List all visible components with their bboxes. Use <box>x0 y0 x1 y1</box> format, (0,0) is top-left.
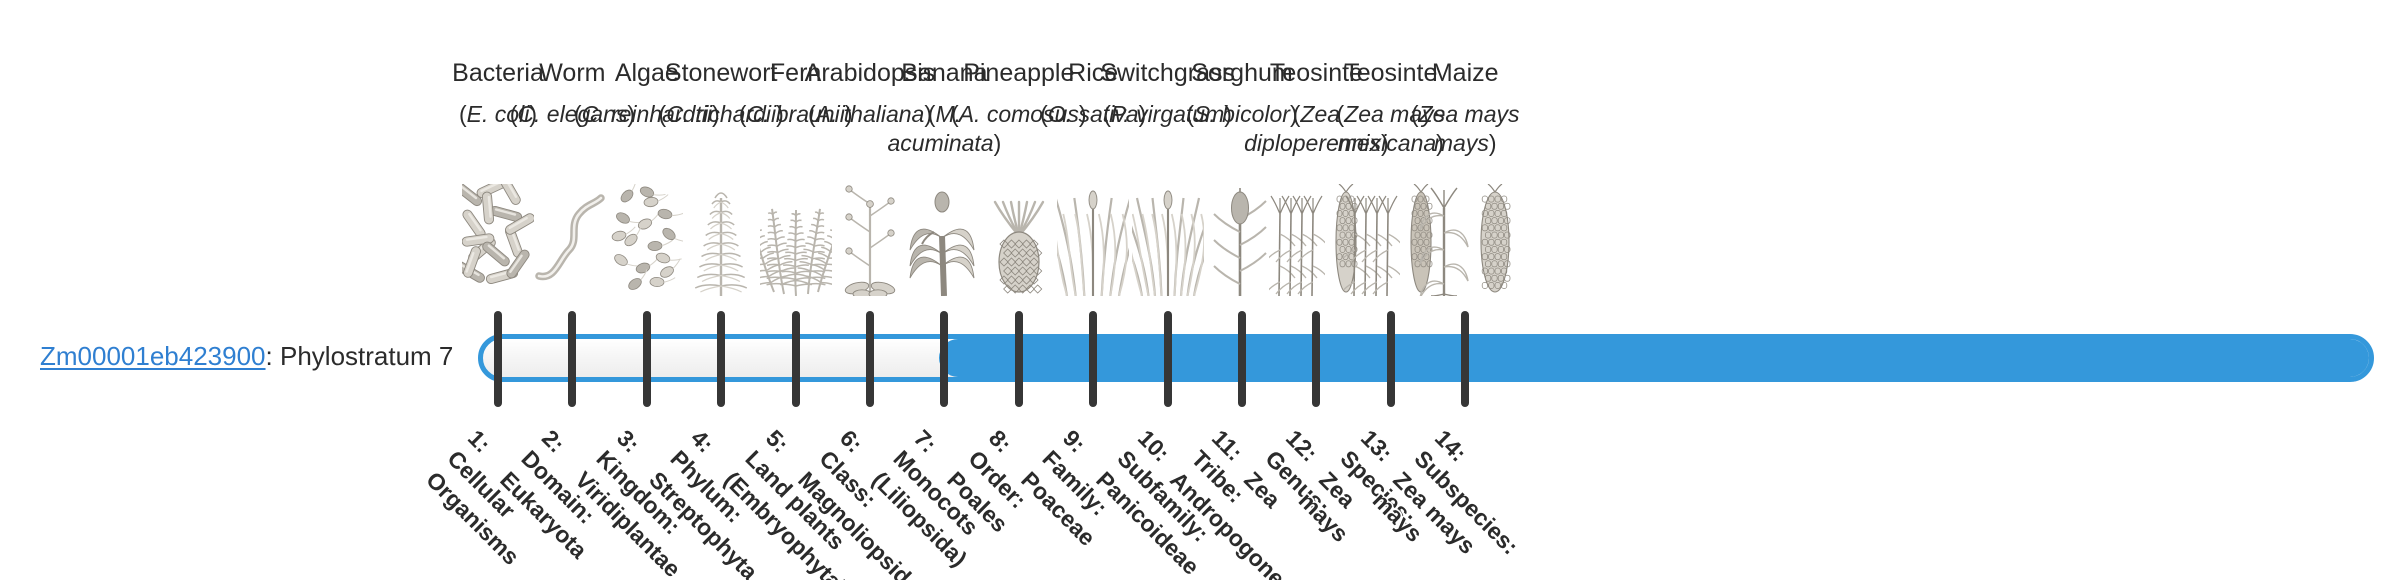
stratum-taxon: Eukaryota <box>494 466 727 580</box>
stratum-number: 14: <box>1428 424 1661 580</box>
stratum-number: 12: <box>1280 424 1513 580</box>
phylostratum-tick-13[interactable] <box>1387 311 1395 407</box>
gene-label-separator: : <box>266 341 280 371</box>
latin-open-paren: ( <box>1186 101 1194 127</box>
gene-id-link[interactable]: Zm00001eb423900 <box>40 341 266 371</box>
stratum-number: 13: <box>1354 424 1587 580</box>
species-common-name: Maize <box>1390 58 1540 89</box>
gene-phylostratum-value: Phylostratum 7 <box>280 341 453 371</box>
phylostratum-label-5: 5:Land plants(Embryophyta) <box>717 424 992 580</box>
phylostratum-tick-11[interactable] <box>1238 311 1246 407</box>
phylostratum-tick-4[interactable] <box>717 311 725 407</box>
stratum-rank: Domain: <box>515 445 748 580</box>
stratum-taxon: Panicoideae <box>1089 466 1322 580</box>
stratum-number: 4: <box>684 424 917 580</box>
phylostratum-tick-1[interactable] <box>494 311 502 407</box>
phylostratum-label-3: 3:Kingdom:Viridiplantae <box>568 424 843 580</box>
phylostratum-label-2: 2:Domain:Eukaryota <box>494 424 769 580</box>
stratum-rank: Subfamily: <box>1110 445 1343 580</box>
phylostratum-label-9: 9:Family:Poaceae <box>1015 424 1290 580</box>
phylostratum-label-14: 14:Subspecies:Zea maysmays <box>1366 424 1661 580</box>
phylostratum-label-1: 1:CellularOrganisms <box>420 424 695 580</box>
stratum-number: 3: <box>610 424 843 580</box>
latin-open-paren: ( <box>1103 101 1111 127</box>
stratum-rank: Order: <box>961 445 1194 580</box>
phylostratum-label-12: 12:Genus:Zea <box>1238 424 1513 580</box>
stratum-taxon-cont: mays <box>1366 486 1599 580</box>
stratum-taxon: Viridiplantae <box>568 466 801 580</box>
stratum-taxon: Zea <box>1312 466 1545 580</box>
stratum-rank: Land plants <box>738 445 971 580</box>
latin-open-paren: ( <box>1336 101 1344 127</box>
phylostratum-label-7: 7:Monocots(Liliopsida) <box>866 424 1141 580</box>
stratum-number: 8: <box>982 424 1215 580</box>
stratum-taxon: Andropogoneae <box>1164 466 1397 580</box>
phylostratum-label-13: 13:Species:Zeamays <box>1292 424 1587 580</box>
stratum-rank: Kingdom: <box>589 445 822 580</box>
stratum-number: 2: <box>536 424 769 580</box>
phylostratum-tick-10[interactable] <box>1164 311 1172 407</box>
phylostratum-tick-3[interactable] <box>643 311 651 407</box>
stratum-number: 10: <box>1131 424 1364 580</box>
stratum-number: 1: <box>461 424 694 580</box>
species-header-maize: Maize(Zea mays mays) <box>1390 58 1540 158</box>
stratum-taxon: Streptophyta <box>643 466 876 580</box>
latin-close-paren: ) <box>1489 130 1497 156</box>
stratum-rank: Monocots <box>887 445 1120 580</box>
phylostratum-tick-2[interactable] <box>568 311 576 407</box>
latin-open-paren: ( <box>951 101 959 127</box>
phylostratum-label-11: 11:Tribe:Andropogoneae <box>1164 424 1439 580</box>
species-latin-name: (Zea mays mays) <box>1390 100 1540 158</box>
stratum-rank: Subspecies: <box>1408 445 1641 580</box>
stratum-number: 5: <box>759 424 992 580</box>
phylostratum-tick-6[interactable] <box>866 311 874 407</box>
stratum-rank: Class: <box>812 445 1045 580</box>
stratum-number: 11: <box>1205 424 1438 580</box>
phylostratum-label-10: 10:Subfamily:Panicoideae <box>1089 424 1364 580</box>
stratum-rank: Genus: <box>1259 445 1492 580</box>
stratum-rank: Tribe: <box>1184 445 1417 580</box>
latin-open-paren: ( <box>1411 101 1419 127</box>
stratum-taxon: Organisms <box>420 466 653 580</box>
stratum-taxon: Zea mays <box>1387 466 1620 580</box>
stratum-rank: Phylum: <box>664 445 897 580</box>
phylostratum-visualization: Zm00001eb423900: Phylostratum 7 Bacteria… <box>0 0 2400 580</box>
latin-open-paren: ( <box>1040 101 1048 127</box>
latin-open-paren: ( <box>808 101 816 127</box>
stratum-taxon: Poales <box>940 466 1173 580</box>
phylostratum-tick-7[interactable] <box>940 311 948 407</box>
maize-icon <box>1405 168 1525 296</box>
phylostratum-label-4: 4:Phylum:Streptophyta <box>643 424 918 580</box>
phylostratum-tick-5[interactable] <box>792 311 800 407</box>
stratum-rank: Cellular <box>440 445 673 580</box>
latin-close-paren: ) <box>994 130 1002 156</box>
latin-binomial: Zea mays mays <box>1419 101 1520 156</box>
gene-phylostratum-label: Zm00001eb423900: Phylostratum 7 <box>40 341 440 372</box>
stratum-taxon: (Embryophyta) <box>717 466 950 580</box>
stratum-taxon-cont: mays <box>1292 486 1525 580</box>
stratum-number: 7: <box>908 424 1141 580</box>
stratum-taxon: Zea <box>1238 466 1471 580</box>
latin-open-paren: ( <box>574 101 582 127</box>
phylostratum-tick-9[interactable] <box>1089 311 1097 407</box>
phylostratum-bar-fill <box>939 339 2374 377</box>
stratum-taxon: Magnoliopsida <box>792 466 1025 580</box>
stratum-number: 9: <box>1056 424 1289 580</box>
phylostratum-tick-8[interactable] <box>1015 311 1023 407</box>
stratum-taxon: Poaceae <box>1015 466 1248 580</box>
phylostratum-tick-12[interactable] <box>1312 311 1320 407</box>
stratum-taxon: (Liliopsida) <box>866 466 1099 580</box>
stratum-rank: Species: <box>1333 445 1566 580</box>
latin-open-paren: ( <box>459 101 467 127</box>
phylostratum-bar-track[interactable] <box>478 334 2374 382</box>
stratum-number: 6: <box>833 424 1066 580</box>
phylostratum-label-6: 6:Class:Magnoliopsida <box>792 424 1067 580</box>
stratum-rank: Family: <box>1036 445 1269 580</box>
phylostratum-label-8: 8:Order:Poales <box>940 424 1215 580</box>
phylostratum-tick-14[interactable] <box>1461 311 1469 407</box>
